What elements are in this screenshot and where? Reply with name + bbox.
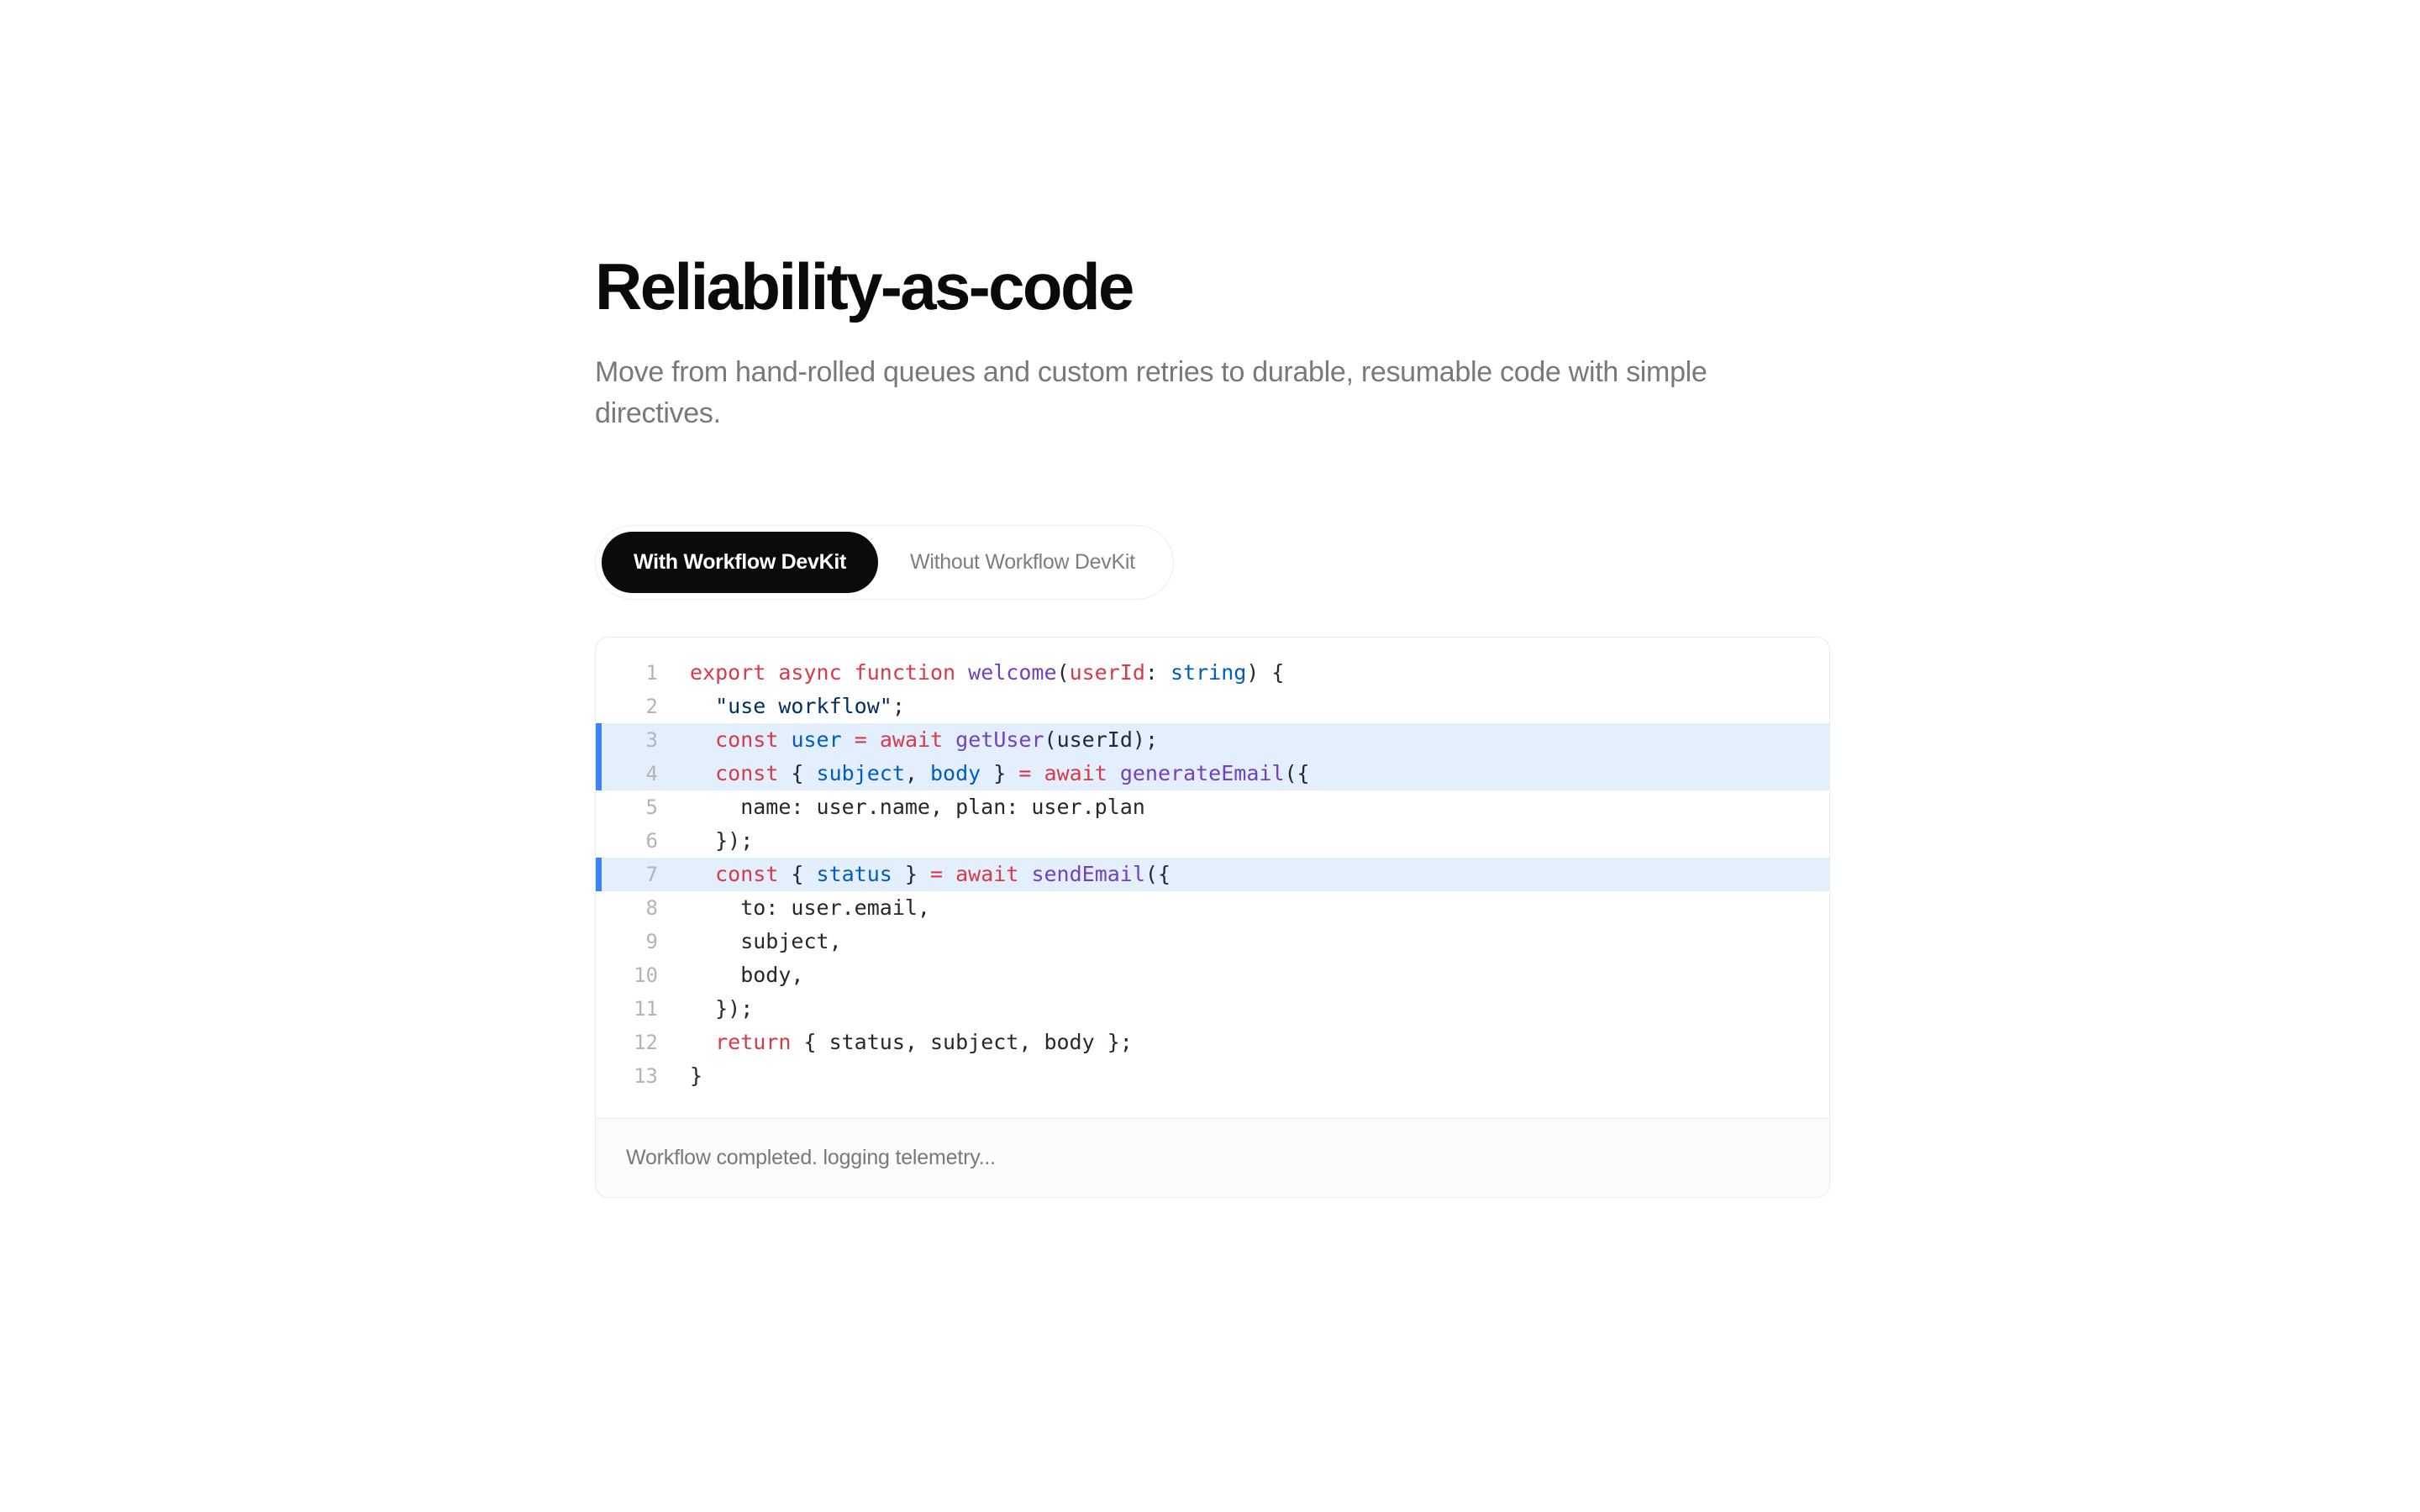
code-token: ({ xyxy=(1285,761,1310,785)
code-line-text: } xyxy=(673,1059,1829,1093)
code-token xyxy=(867,727,880,752)
line-number: 5 xyxy=(596,790,673,824)
code-line: 3 const user = await getUser(userId); xyxy=(596,723,1829,757)
code-token: "use workflow" xyxy=(715,694,892,718)
code-token xyxy=(943,862,955,886)
code-line: 9 subject, xyxy=(596,925,1829,958)
code-line: 12 return { status, subject, body }; xyxy=(596,1026,1829,1059)
code-token: } xyxy=(690,1063,702,1088)
code-line-text: to: user.email, xyxy=(673,891,1829,925)
code-token: status xyxy=(817,862,892,886)
code-token: }); xyxy=(690,828,753,853)
code-token xyxy=(690,727,715,752)
code-token: = xyxy=(930,862,943,886)
code-token xyxy=(842,727,855,752)
code-token xyxy=(690,1030,715,1054)
line-number: 2 xyxy=(596,690,673,723)
line-number: 3 xyxy=(596,723,673,757)
code-token: export xyxy=(690,660,778,685)
code-line: 13} xyxy=(596,1059,1829,1093)
code-token: subject, xyxy=(690,929,842,953)
code-token: (userId); xyxy=(1044,727,1158,752)
code-token: string xyxy=(1171,660,1246,685)
page-title: Reliability-as-code xyxy=(595,252,1830,322)
code-token: { status, subject, body }; xyxy=(791,1030,1132,1054)
toggle-with-workflow-devkit[interactable]: With Workflow DevKit xyxy=(602,532,878,593)
code-line: 2 "use workflow"; xyxy=(596,690,1829,723)
toggle-without-workflow-devkit[interactable]: Without Workflow DevKit xyxy=(878,532,1167,593)
line-number: 13 xyxy=(596,1059,673,1093)
code-token xyxy=(690,862,715,886)
code-token xyxy=(690,694,715,718)
page-subtitle: Move from hand-rolled queues and custom … xyxy=(595,322,1721,435)
code-token: to: user.email, xyxy=(690,895,930,920)
code-token: body, xyxy=(690,963,803,987)
line-number: 11 xyxy=(596,992,673,1026)
code-card: 1export async function welcome(userId: s… xyxy=(595,637,1830,1198)
code-block[interactable]: 1export async function welcome(userId: s… xyxy=(596,638,1829,1118)
code-line-text: const { subject, body } = await generate… xyxy=(673,757,1829,790)
code-line: 4 const { subject, body } = await genera… xyxy=(596,757,1829,790)
code-line-text: subject, xyxy=(673,925,1829,958)
code-token xyxy=(1107,761,1120,785)
code-token: = xyxy=(855,727,867,752)
variant-toggle-group[interactable]: With Workflow DevKit Without Workflow De… xyxy=(595,525,1174,600)
code-token: } xyxy=(981,761,1018,785)
code-token: getUser xyxy=(955,727,1044,752)
code-token xyxy=(778,727,791,752)
code-line: 11 }); xyxy=(596,992,1829,1026)
code-token: ( xyxy=(1057,660,1070,685)
line-number: 9 xyxy=(596,925,673,958)
code-token xyxy=(690,761,715,785)
code-line-text: const user = await getUser(userId); xyxy=(673,723,1829,757)
code-token: ; xyxy=(892,694,905,718)
code-token: const xyxy=(715,761,778,785)
code-line-text: const { status } = await sendEmail({ xyxy=(673,858,1829,891)
code-token xyxy=(1018,862,1031,886)
code-line-text: export async function welcome(userId: st… xyxy=(673,656,1829,690)
code-token: name: user.name, plan: user.plan xyxy=(690,795,1145,819)
line-number: 7 xyxy=(596,858,673,891)
content-column: Reliability-as-code Move from hand-rolle… xyxy=(595,252,1830,1198)
code-token: = xyxy=(1018,761,1031,785)
code-token: await xyxy=(1044,761,1107,785)
code-token: { xyxy=(778,862,816,886)
line-number: 12 xyxy=(596,1026,673,1059)
code-token: welcome xyxy=(968,660,1056,685)
line-number: 6 xyxy=(596,824,673,858)
code-token: userId xyxy=(1070,660,1145,685)
line-number: 1 xyxy=(596,656,673,690)
code-token: return xyxy=(715,1030,791,1054)
code-line: 7 const { status } = await sendEmail({ xyxy=(596,858,1829,891)
code-token: , xyxy=(905,761,930,785)
line-number: 10 xyxy=(596,958,673,992)
code-token: const xyxy=(715,862,778,886)
code-token: } xyxy=(892,862,930,886)
code-line-text: return { status, subject, body }; xyxy=(673,1026,1829,1059)
code-token: await xyxy=(955,862,1018,886)
code-token xyxy=(1031,761,1044,785)
code-token: sendEmail xyxy=(1031,862,1144,886)
code-token: generateEmail xyxy=(1120,761,1285,785)
code-token xyxy=(943,727,955,752)
code-line: 6 }); xyxy=(596,824,1829,858)
line-number: 4 xyxy=(596,757,673,790)
code-line: 8 to: user.email, xyxy=(596,891,1829,925)
code-line-text: name: user.name, plan: user.plan xyxy=(673,790,1829,824)
code-line-text: body, xyxy=(673,958,1829,992)
code-line-text: }); xyxy=(673,992,1829,1026)
code-token: ) { xyxy=(1246,660,1284,685)
code-line-text: }); xyxy=(673,824,1829,858)
code-token: : xyxy=(1145,660,1171,685)
page-root: Reliability-as-code Move from hand-rolle… xyxy=(0,0,2420,1512)
code-line: 5 name: user.name, plan: user.plan xyxy=(596,790,1829,824)
code-line: 10 body, xyxy=(596,958,1829,992)
code-line: 1export async function welcome(userId: s… xyxy=(596,656,1829,690)
code-token: body xyxy=(930,761,981,785)
code-token: function xyxy=(855,660,968,685)
code-token: const xyxy=(715,727,778,752)
line-number: 8 xyxy=(596,891,673,925)
code-token: }); xyxy=(690,996,753,1021)
code-token: subject xyxy=(817,761,905,785)
code-token: user xyxy=(791,727,841,752)
code-line-text: "use workflow"; xyxy=(673,690,1829,723)
code-token: async xyxy=(778,660,854,685)
status-bar: Workflow completed. logging telemetry... xyxy=(596,1118,1829,1197)
code-token: await xyxy=(880,727,943,752)
code-token: { xyxy=(778,761,816,785)
code-token: ({ xyxy=(1145,862,1171,886)
